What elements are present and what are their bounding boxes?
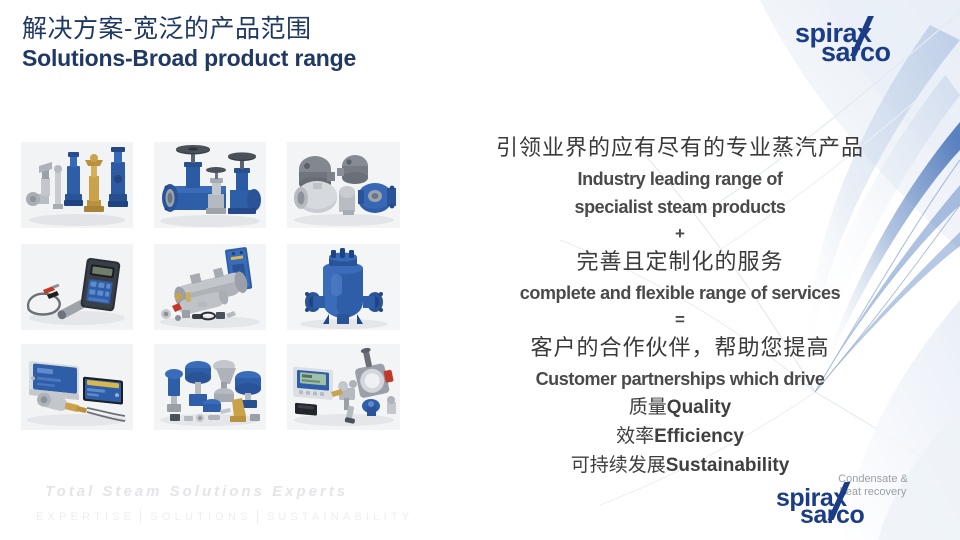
- message-line-efficiency-en: Efficiency: [654, 426, 744, 447]
- message-line-1: 引领业界的应有尽有的专业蒸汽产品: [455, 133, 905, 165]
- message-line-3: specialist steam products: [455, 193, 905, 221]
- message-line-2: Industry leading range of: [455, 165, 905, 193]
- product-thumb-level-control-units[interactable]: [21, 344, 133, 430]
- control-valve-assortment-image: [154, 344, 266, 430]
- product-thumb-safety-relief-valves[interactable]: [21, 142, 133, 228]
- message-line-5: complete and flexible range of services: [455, 279, 905, 307]
- page-title: 解决方案-宽泛的产品范围 Solutions-Broad product ran…: [22, 14, 356, 72]
- condensate-recovery-pump-image: [287, 244, 400, 330]
- footer-divider-1: [140, 509, 141, 524]
- footer-pillars: EXPERTISE SOLUTIONS SUSTAINABILITY: [36, 509, 413, 524]
- handheld-diagnostic-meter-image: [21, 244, 133, 330]
- product-thumb-flow-metering-equipment[interactable]: [287, 344, 400, 430]
- footer-divider-2: [257, 509, 258, 524]
- steam-traps-image: [287, 142, 400, 228]
- product-thumb-heat-exchangers-fittings[interactable]: [154, 244, 266, 330]
- product-thumb-steam-traps[interactable]: [287, 142, 400, 228]
- footer-tagline: Total Steam Solutions Experts: [45, 483, 348, 500]
- spirax-sarco-logo-bottom: spirax sarco: [776, 486, 864, 528]
- footer-pillar-sustainability: SUSTAINABILITY: [267, 511, 414, 523]
- message-line-6: 客户的合作伙伴，帮助您提高: [455, 333, 905, 365]
- message-line-quality-en: Quality: [667, 397, 731, 418]
- message-line-efficiency-cn: 效率: [616, 425, 654, 447]
- level-control-units-image: [21, 344, 133, 430]
- message-operator-equals: =: [455, 307, 905, 333]
- message-line-4: 完善且定制化的服务: [455, 247, 905, 279]
- message-operator-plus: +: [455, 221, 905, 247]
- page-title-chinese: 解决方案-宽泛的产品范围: [22, 14, 356, 44]
- footer-pillar-solutions: SOLUTIONS: [150, 511, 251, 523]
- product-thumb-control-valves-flanged[interactable]: [154, 142, 266, 228]
- heat-exchangers-fittings-image: [154, 244, 266, 330]
- control-valves-flanged-image: [154, 142, 266, 228]
- page-title-english: Solutions-Broad product range: [22, 44, 356, 72]
- message-line-quality-cn: 质量: [629, 396, 667, 418]
- message-line-efficiency: 效率Efficiency: [455, 422, 905, 451]
- message-line-7: Customer partnerships which drive: [455, 365, 905, 393]
- spirax-sarco-logo-top: spirax sarco: [795, 20, 891, 66]
- safety-relief-valves-image: [21, 142, 133, 228]
- footer-pillar-expertise: EXPERTISE: [36, 511, 135, 523]
- message-line-quality: 质量Quality: [455, 393, 905, 422]
- flow-metering-equipment-image: [287, 344, 400, 430]
- product-image-grid: [21, 142, 400, 430]
- product-thumb-condensate-recovery-pump[interactable]: [287, 244, 400, 330]
- slide-canvas: 解决方案-宽泛的产品范围 Solutions-Broad product ran…: [0, 0, 960, 540]
- product-thumb-handheld-diagnostic-meter[interactable]: [21, 244, 133, 330]
- product-thumb-control-valve-assortment[interactable]: [154, 344, 266, 430]
- message-line-sustainability-en: Sustainability: [666, 455, 790, 476]
- message-line-sustainability-cn: 可持续发展: [571, 454, 666, 476]
- key-message-block: 引领业界的应有尽有的专业蒸汽产品 Industry leading range …: [455, 133, 905, 480]
